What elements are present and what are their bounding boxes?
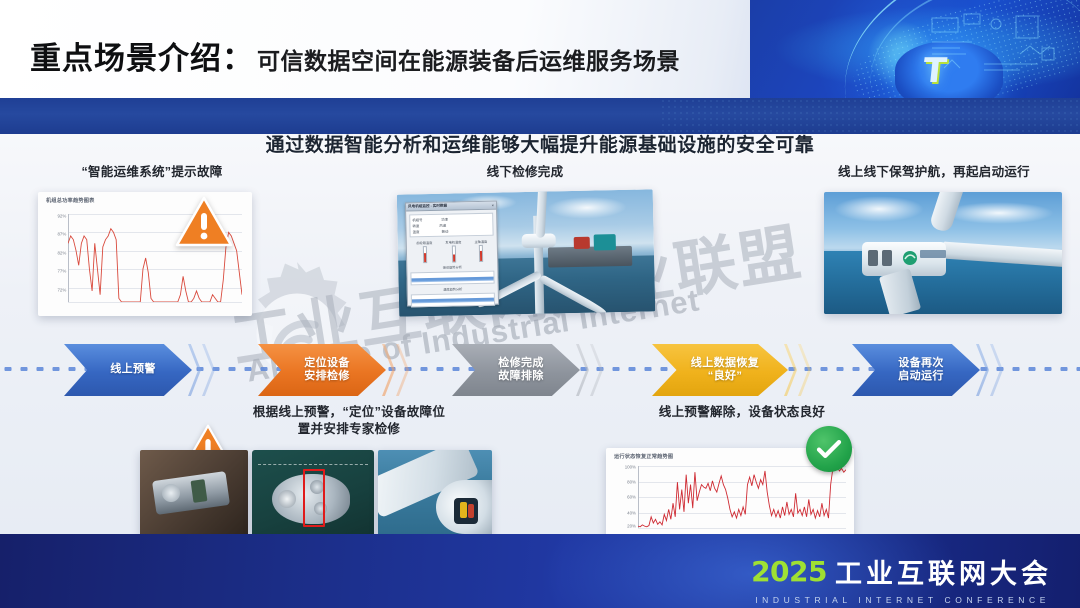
title-sub: 可信数据空间在能源装备后运维服务场景 xyxy=(257,42,680,76)
brand-logo-icon xyxy=(902,250,918,266)
flow-step-5-label: 设备再次启动运行 xyxy=(898,357,944,383)
slide-root: T 重点场景介绍： 可信数据空间在能源装备后运维服务场景 xyxy=(0,0,1080,608)
gauge-item: 齿轮箱温度 xyxy=(416,240,432,263)
check-mark-icon xyxy=(814,434,844,464)
gauge-item: 发电机温度 xyxy=(445,239,461,262)
resolved-chart-plot: 100% 80% 60% 40% 20% xyxy=(638,466,846,528)
field-label: 机组号 xyxy=(412,217,440,223)
gauge-label: 发电机温度 xyxy=(445,239,461,244)
red-detection-box xyxy=(303,469,325,527)
alert-ytick-1: 87% xyxy=(57,232,66,237)
gauge-label: 齿轮箱温度 xyxy=(416,240,432,245)
alert-ytick-2: 82% xyxy=(57,250,66,255)
flow-step-3-label: 检修完成故障排除 xyxy=(498,357,544,383)
gearbox-shaft xyxy=(278,490,296,508)
gauge-item: 主轴温度 xyxy=(474,239,487,262)
page-title: 重点场景介绍： 可信数据空间在能源装备后运维服务场景 xyxy=(30,33,680,78)
slide-header: T 重点场景介绍： 可信数据空间在能源装备后运维服务场景 xyxy=(0,0,1080,98)
process-flow: 线上预警 定位设备安排检修 检修完成故障排除 线上数据恢复“良好” xyxy=(0,344,1080,396)
field-label: 振动 xyxy=(441,228,467,234)
dialog-titlebar: 风电机组监控 - 实时数据 × xyxy=(406,202,496,212)
label-offline-repair-done: 线下检修完成 xyxy=(400,164,650,181)
band-dot-texture xyxy=(660,98,1080,134)
cloud-shape xyxy=(834,196,924,222)
thermometer-icon xyxy=(451,245,455,262)
logo-en: INDUSTRIAL INTERNET CONFERENCE xyxy=(755,595,1050,605)
mini-chart-label: 温度趋势分析 xyxy=(411,286,495,293)
label-alert-system: “智能运维系统”提示故障 xyxy=(36,164,268,181)
field-label: 温度 xyxy=(412,229,440,235)
dialog-title: 风电机组监控 - 实时数据 xyxy=(408,204,447,210)
hud-glyph-cluster xyxy=(924,8,1074,90)
machine-bearing xyxy=(162,484,180,502)
equipment-container xyxy=(594,234,616,250)
flow-step-1-label: 线上预警 xyxy=(110,363,156,376)
photo-gearbox-detection[interactable] xyxy=(252,450,374,538)
photo-component-inspection[interactable] xyxy=(140,450,248,538)
nacelle-vent xyxy=(882,250,892,266)
mini-chart-temperature xyxy=(411,293,495,308)
cloud-shape xyxy=(944,202,1054,224)
gauge-label: 主轴温度 xyxy=(474,239,487,244)
header-accent-band xyxy=(0,98,1080,134)
header-tech-graphic: T xyxy=(750,0,1080,98)
field-label: 转速 xyxy=(412,223,438,229)
resolved-ytick-0: 100% xyxy=(625,465,636,470)
thermometer-icon xyxy=(479,245,483,262)
brand-wordmark xyxy=(920,250,946,258)
flow-step-2-label: 定位设备安排检修 xyxy=(304,357,350,383)
label-alarm-cleared: 线上预警解除，设备状态良好 xyxy=(608,404,876,421)
nacelle-vent xyxy=(868,250,878,266)
field-label: 功率 xyxy=(441,216,469,222)
resolved-ytick-4: 20% xyxy=(627,524,636,529)
mini-chart-vibration xyxy=(410,271,494,286)
logo-year: 2025 xyxy=(751,555,827,588)
dialog-field-grid: 机组号 功率 转速 风速 温度 振动 xyxy=(409,213,493,238)
flow-step-4-label: 线上数据恢复“良好” xyxy=(691,357,759,383)
technician-figure xyxy=(460,502,467,518)
technician-figure xyxy=(468,504,474,518)
alert-chart-title: 机组总功率趋势图表 xyxy=(46,197,95,204)
gauge-row: 齿轮箱温度 发电机温度 主轴温度 xyxy=(410,239,494,264)
resolved-ytick-1: 80% xyxy=(627,479,636,484)
thermometer-icon xyxy=(422,246,426,263)
photo-technician-at-hub[interactable] xyxy=(378,450,492,538)
label-locate-fault: 根据线上预警，“定位”设备故障位置并安排专家检修 xyxy=(206,404,492,438)
resolved-chart-series xyxy=(638,466,846,528)
resolved-ytick-3: 40% xyxy=(627,510,636,515)
warning-triangle-icon xyxy=(175,196,233,248)
photo-turbine-nacelle-closeup[interactable] xyxy=(824,192,1062,314)
label-online-offline-escort: 线上线下保驾护航，再起启动运行 xyxy=(800,164,1068,181)
service-platform xyxy=(548,246,632,268)
resolved-ytick-2: 60% xyxy=(627,495,636,500)
section-subtitle: 通过数据智能分析和运维能够大幅提升能源基础设施的安全可靠 xyxy=(0,130,1080,157)
resolved-chart-title: 运行状态恢复正常趋势图 xyxy=(614,453,673,460)
slide-footer: 2025 工业互联网大会 INDUSTRIAL INTERNET CONFERE… xyxy=(0,534,1080,608)
alert-ytick-3: 77% xyxy=(57,269,66,274)
dialog-monitor-window[interactable]: 风电机组监控 - 实时数据 × 机组号 功率 转速 风速 温度 振动 齿轮箱温度 xyxy=(405,201,499,307)
conference-logo: 2025 工业互联网大会 INDUSTRIAL INTERNET CONFERE… xyxy=(751,552,1052,605)
mini-chart-label: 振动趋势分析 xyxy=(410,264,494,271)
guide-line xyxy=(258,464,368,465)
equipment-container xyxy=(574,237,590,249)
logo-cn: 工业互联网大会 xyxy=(835,552,1052,591)
alert-ytick-4: 72% xyxy=(57,287,66,292)
field-label: 风速 xyxy=(439,222,467,228)
machine-part xyxy=(191,479,208,503)
title-main: 重点场景介绍： xyxy=(30,33,254,78)
alert-ytick-0: 92% xyxy=(57,213,66,218)
close-icon[interactable]: × xyxy=(492,203,494,208)
check-circle-icon xyxy=(806,426,852,472)
photo-offline-maintenance[interactable]: 风电机组监控 - 实时数据 × 机组号 功率 转速 风速 温度 振动 齿轮箱温度 xyxy=(397,189,655,316)
